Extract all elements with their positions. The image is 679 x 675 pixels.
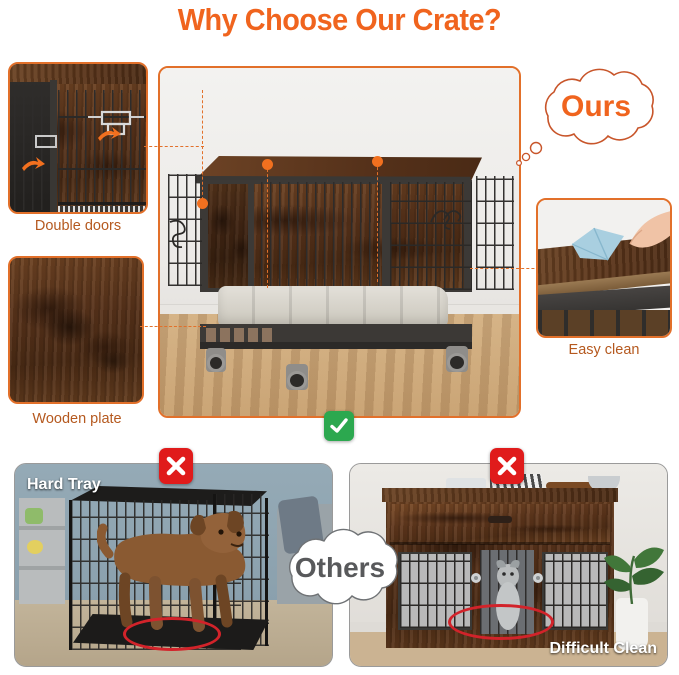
feature-dot-left [197, 198, 208, 209]
double-doors-photo [10, 64, 146, 212]
caption-difficult-clean: Difficult Clean [549, 640, 657, 658]
connector-vertical-right [377, 162, 378, 282]
main-product-photo [158, 66, 521, 418]
feature-panel-wooden-plate [8, 256, 144, 404]
caster-rear-right [446, 346, 468, 372]
connector-vertical-center [267, 164, 268, 288]
cross-icon [165, 455, 187, 477]
others-cross-badge-left [159, 448, 193, 484]
feature-dot-center [262, 159, 273, 170]
hard-tray-highlight [123, 617, 221, 651]
caster-front-center [286, 364, 308, 390]
caption-double-doors: Double doors [8, 218, 148, 234]
infographic-root: Why Choose Our Crate? [0, 0, 679, 675]
caster-front-left [206, 348, 226, 372]
crate-body [200, 180, 472, 292]
feature-panel-easy-clean [536, 198, 672, 338]
page-title: Why Choose Our Crate? [24, 2, 655, 38]
ours-bubble-tail-icon [516, 140, 546, 170]
connector-wooden-plate [140, 326, 206, 327]
connector-double-doors [144, 146, 204, 147]
right-door-latch-icon [428, 200, 464, 230]
left-door-latch-icon [166, 216, 192, 250]
connector-vertical-left [202, 90, 203, 200]
others-bubble-label: Others [264, 552, 416, 584]
hinge-right-icon [530, 570, 546, 586]
easy-clean-photo [538, 200, 670, 336]
ours-bubble-label: Ours [520, 90, 672, 124]
feature-dot-right [372, 156, 383, 167]
crate-cushion [218, 286, 448, 328]
difficult-clean-highlight [448, 604, 554, 640]
cleaning-cloth-icon [568, 226, 628, 268]
caption-hard-tray: Hard Tray [27, 476, 101, 494]
ours-check-badge [324, 411, 354, 441]
arrow-right-secondary-icon [20, 156, 46, 174]
feature-panel-double-doors [8, 62, 148, 214]
caption-easy-clean: Easy clean [536, 342, 672, 358]
crate-right-door [476, 176, 514, 290]
check-icon [329, 416, 349, 436]
door-latch-secondary-icon [30, 132, 64, 156]
others-thought-bubble: Others [264, 528, 416, 612]
cross-icon [496, 455, 518, 477]
caption-wooden-plate: Wooden plate [4, 411, 150, 427]
hinge-left-icon [468, 570, 484, 586]
arrow-right-icon [96, 126, 122, 144]
others-cross-badge-right [490, 448, 524, 484]
plant-icon [598, 526, 668, 604]
